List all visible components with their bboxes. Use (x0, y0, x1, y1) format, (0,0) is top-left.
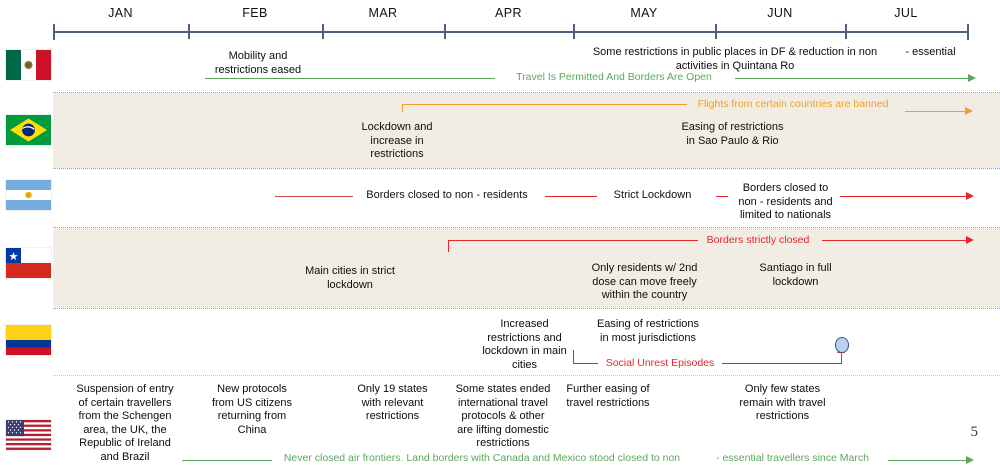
usa-annotation-label-2: - essential travellers since March (700, 452, 885, 466)
row-separator-argentina-chile (53, 227, 1000, 228)
axis-tick-start (53, 24, 55, 40)
usa-note-suspension-entry: Suspension of entry of certain traveller… (60, 383, 190, 464)
timeline-axis (53, 31, 968, 33)
usa-note-19-states: Only 19 states with relevant restriction… (340, 383, 445, 424)
usa-note-some-states: Some states ended international travel p… (444, 383, 562, 451)
axis-month-apr: APR (444, 6, 573, 20)
axis-tick-may-jun (715, 24, 717, 39)
mexico-flag-icon (6, 50, 51, 80)
axis-month-jun: JUN (715, 6, 845, 20)
axis-tick-jan-feb (188, 24, 190, 39)
axis-month-mar: MAR (322, 6, 444, 20)
chile-flag-icon (6, 248, 51, 278)
colombia-flag-icon (6, 325, 51, 355)
mexico-note-essential: - essential (893, 46, 968, 60)
chile-flag (6, 248, 51, 278)
colombia-note-easing: Easing of restrictions in most jurisdict… (583, 318, 713, 345)
colombia-annotation-label: Social Unrest Episodes (596, 357, 724, 371)
usa-annotation-label-1: Never closed air frontiers. Land borders… (272, 452, 692, 466)
row-separator-mexico-brazil (53, 92, 1000, 93)
usa-flag (6, 420, 51, 450)
row-separator-chile-colombia (53, 308, 1000, 309)
chile-note-second-dose: Only residents w/ 2nd dose can move free… (572, 262, 717, 303)
brazil-note-easing: Easing of restrictions in Sao Paulo & Ri… (635, 121, 830, 148)
chile-note-santiago: Santiago in full lockdown (718, 262, 873, 289)
colombia-flag (6, 325, 51, 355)
colombia-note-increased-restrictions: Increased restrictions and lockdown in m… (472, 318, 577, 372)
argentina-note-borders-nationals: Borders closed to non - residents and li… (728, 182, 843, 223)
usa-note-new-protocols: New protocols from US citizens returning… (193, 383, 311, 437)
brazil-note-lockdown: Lockdown and increase in restrictions (327, 121, 467, 162)
usa-note-further-easing: Further easing of travel restrictions (553, 383, 663, 410)
chile-annotation-label: Borders strictly closed (698, 234, 818, 248)
argentina-label-strict-lockdown: Strict Lockdown (600, 189, 705, 203)
argentina-flag (6, 180, 51, 210)
mexico-note-mobility: Mobility and restrictions eased (188, 50, 328, 77)
mexico-flag (6, 50, 51, 80)
axis-tick-apr-may (573, 24, 575, 39)
axis-tick-jun-jul (845, 24, 847, 39)
axis-month-may: MAY (573, 6, 715, 20)
axis-month-feb: FEB (188, 6, 322, 20)
timeline-infographic: JAN FEB MAR APR MAY JUN JUL (0, 0, 1000, 463)
row-separator-colombia-usa (53, 375, 1000, 376)
row-separator-brazil-argentina (53, 168, 1000, 169)
mexico-annotation-label: Travel Is Permitted And Borders Are Open (495, 71, 733, 85)
usa-flag-icon (6, 420, 51, 450)
brazil-flag (6, 115, 51, 145)
brazil-annotation-label: Flights from certain countries are banne… (687, 98, 899, 112)
axis-month-jan: JAN (53, 6, 188, 20)
page-number: 5 (971, 424, 979, 441)
argentina-flag-icon (6, 180, 51, 210)
mexico-note-restrictions: Some restrictions in public places in DF… (580, 46, 890, 73)
brazil-flag-icon (6, 115, 51, 145)
colombia-social-unrest-marker (835, 337, 849, 353)
chile-note-main-cities: Main cities in strict lockdown (265, 265, 435, 292)
axis-tick-mar-apr (444, 24, 446, 39)
argentina-label-borders-closed: Borders closed to non - residents (356, 189, 538, 203)
axis-tick-feb-mar (322, 24, 324, 39)
axis-tick-end (967, 24, 969, 40)
axis-month-jul: JUL (845, 6, 967, 20)
usa-note-few-states: Only few states remain with travel restr… (715, 383, 850, 424)
